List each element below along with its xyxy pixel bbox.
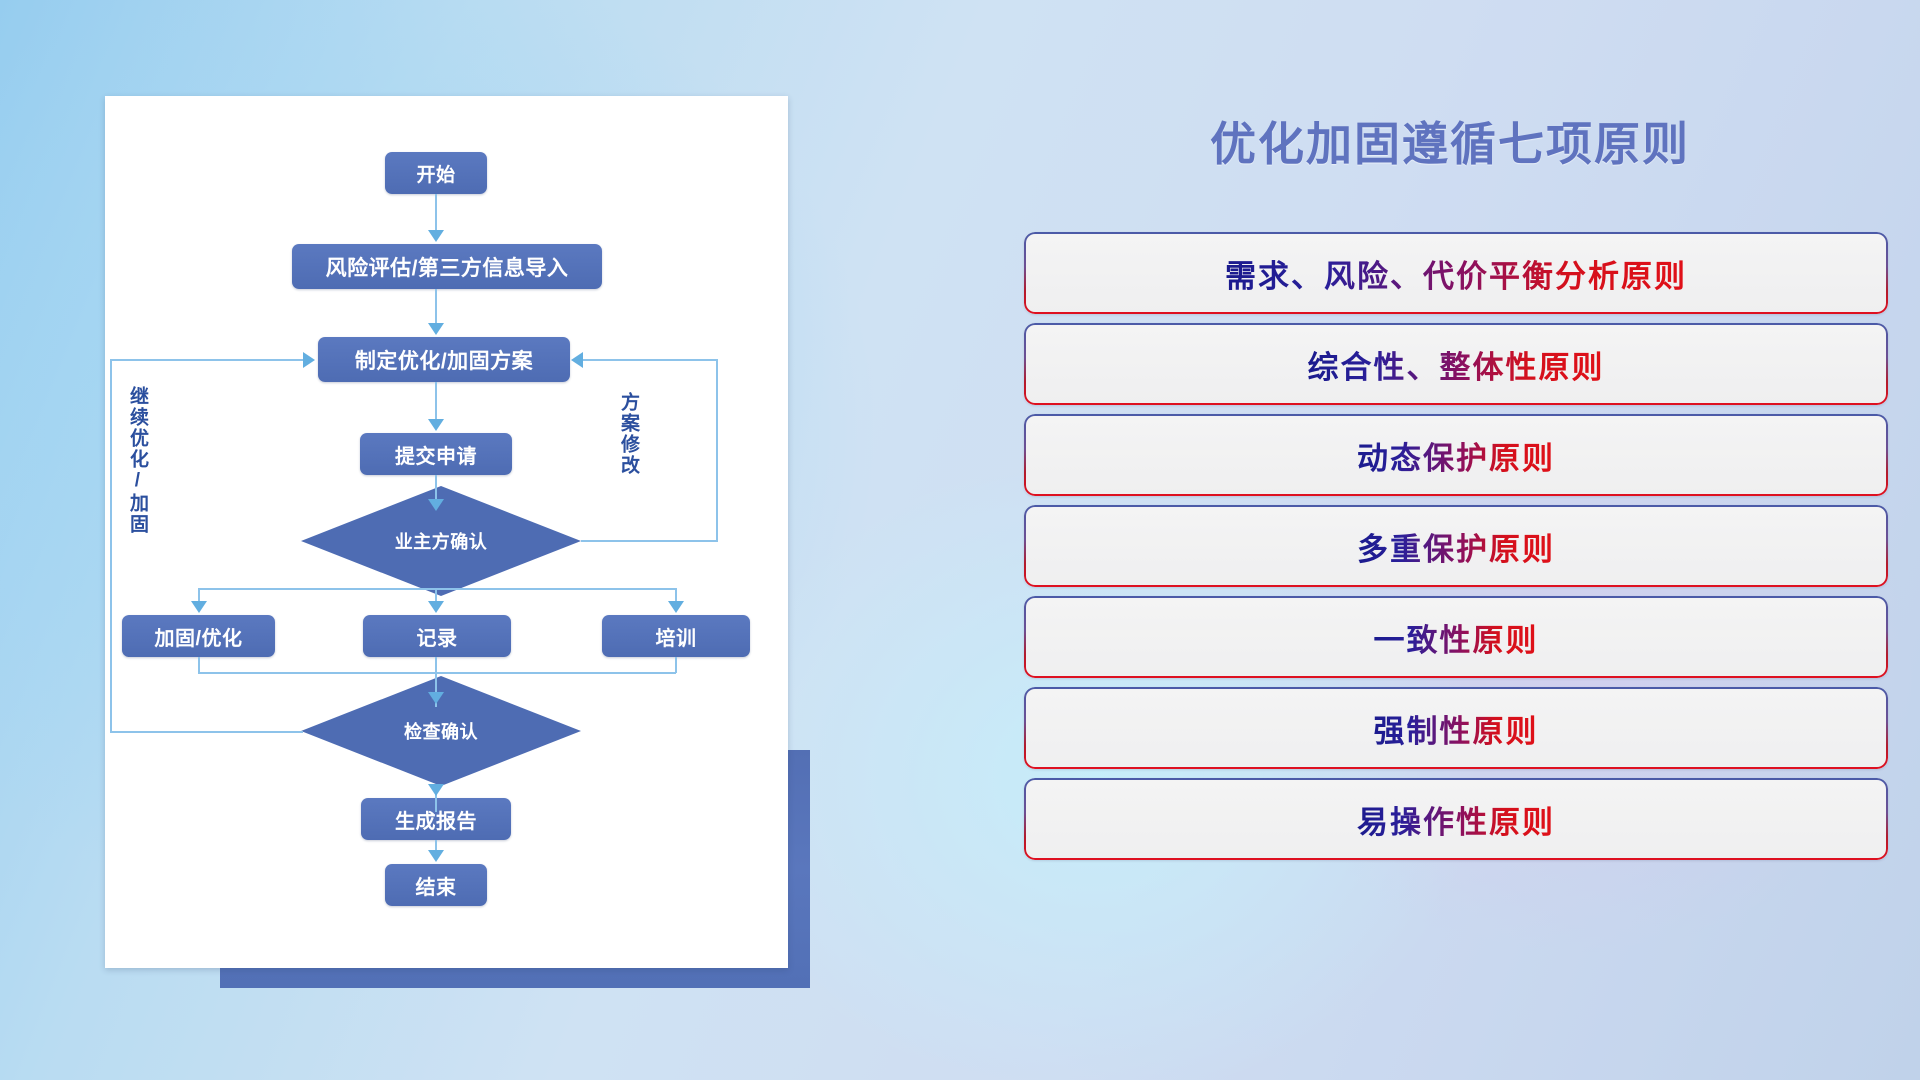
- flowchart-panel: 开始 风险评估/第三方信息导入 制定优化/加固方案 提交申请 业主方确认 加固/…: [0, 0, 820, 1080]
- connector-right-to-plan: [583, 359, 718, 361]
- slide-canvas: 开始 风险评估/第三方信息导入 制定优化/加固方案 提交申请 业主方确认 加固/…: [0, 0, 1920, 1080]
- flow-node-plan-label: 制定优化/加固方案: [355, 345, 533, 375]
- principle-item-7[interactable]: 易操作性原则: [1024, 778, 1888, 860]
- connector-training-down: [675, 657, 677, 673]
- connector-reinforce-down: [198, 657, 200, 673]
- flow-node-start[interactable]: 开始: [385, 152, 487, 194]
- arrowhead-submit-to-owner: [428, 499, 444, 511]
- connector-start-to-risk: [435, 194, 437, 232]
- arrowhead-right-to-plan: [571, 352, 583, 368]
- arrowhead-left-to-plan: [303, 352, 315, 368]
- principle-item-4-label: 多重保护原则: [1357, 524, 1555, 569]
- flow-node-record-label: 记录: [417, 622, 458, 651]
- principle-item-3[interactable]: 动态保护原则: [1024, 414, 1888, 496]
- principle-item-3-label: 动态保护原则: [1357, 433, 1555, 478]
- principle-item-2[interactable]: 综合性、整体性原则: [1024, 323, 1888, 405]
- flowchart-card: 开始 风险评估/第三方信息导入 制定优化/加固方案 提交申请 业主方确认 加固/…: [105, 96, 788, 968]
- principle-item-1[interactable]: 需求、风险、代价平衡分析原则: [1024, 232, 1888, 314]
- principle-item-2-label: 综合性、整体性原则: [1308, 342, 1605, 387]
- principle-item-5[interactable]: 一致性原则: [1024, 596, 1888, 678]
- arrowhead-start-to-risk: [428, 230, 444, 242]
- arrowhead-report-to-end: [428, 850, 444, 862]
- flow-node-training[interactable]: 培训: [602, 615, 750, 657]
- arrowhead-plan-to-submit: [428, 419, 444, 431]
- arrowhead-bus-to-training: [668, 601, 684, 613]
- flow-node-end[interactable]: 结束: [385, 864, 487, 906]
- principles-list: 需求、风险、代价平衡分析原则 综合性、整体性原则 动态保护原则 多重保护原则 一…: [1024, 232, 1888, 869]
- arrowhead-check-to-report: [428, 784, 444, 796]
- connector-left-riser: [110, 359, 112, 733]
- connector-left-to-plan: [110, 359, 305, 361]
- connector-fanin-bus: [198, 672, 676, 674]
- flow-node-reinforce[interactable]: 加固/优化: [122, 615, 275, 657]
- connector-risk-to-plan: [435, 289, 437, 323]
- principle-item-5-label: 一致性原则: [1374, 615, 1539, 660]
- connector-owner-right: [581, 540, 718, 542]
- flow-edge-label-plan-revision: 方案修改: [618, 392, 638, 476]
- flow-node-reinforce-label: 加固/优化: [154, 622, 242, 651]
- flow-node-submit[interactable]: 提交申请: [360, 433, 512, 475]
- principles-panel: 优化加固遵循七项原则 需求、风险、代价平衡分析原则 综合性、整体性原则 动态保护…: [1000, 0, 1920, 1080]
- connector-check-left: [110, 731, 303, 733]
- flow-node-risk-assessment[interactable]: 风险评估/第三方信息导入: [292, 244, 602, 289]
- connector-right-riser: [716, 359, 718, 542]
- arrowhead-fanin-to-check: [428, 692, 444, 704]
- flow-node-risk-assessment-label: 风险评估/第三方信息导入: [326, 252, 569, 282]
- arrowhead-bus-to-record: [428, 601, 444, 613]
- principle-item-4[interactable]: 多重保护原则: [1024, 505, 1888, 587]
- page-title: 优化加固遵循七项原则: [1000, 108, 1900, 174]
- principle-item-6[interactable]: 强制性原则: [1024, 687, 1888, 769]
- flow-node-check-confirm-label: 检查确认: [404, 718, 478, 744]
- arrowhead-bus-to-reinforce: [191, 601, 207, 613]
- connector-submit-to-owner: [435, 475, 437, 501]
- principle-item-7-label: 易操作性原则: [1357, 797, 1555, 842]
- flow-node-submit-label: 提交申请: [395, 440, 477, 469]
- flow-node-end-label: 结束: [416, 871, 457, 900]
- connector-fanout-bus: [198, 588, 676, 590]
- flow-node-record[interactable]: 记录: [363, 615, 511, 657]
- connector-plan-to-submit: [435, 382, 437, 419]
- flow-node-plan[interactable]: 制定优化/加固方案: [318, 337, 570, 382]
- arrowhead-risk-to-plan: [428, 323, 444, 335]
- flow-edge-label-continue-optimize: 继续优化/加固: [127, 386, 147, 535]
- principle-item-6-label: 强制性原则: [1374, 706, 1539, 751]
- flow-node-training-label: 培训: [656, 622, 697, 651]
- flow-node-start-label: 开始: [416, 160, 455, 187]
- flow-node-owner-confirm-label: 业主方确认: [395, 528, 488, 554]
- principle-item-1-label: 需求、风险、代价平衡分析原则: [1225, 251, 1687, 296]
